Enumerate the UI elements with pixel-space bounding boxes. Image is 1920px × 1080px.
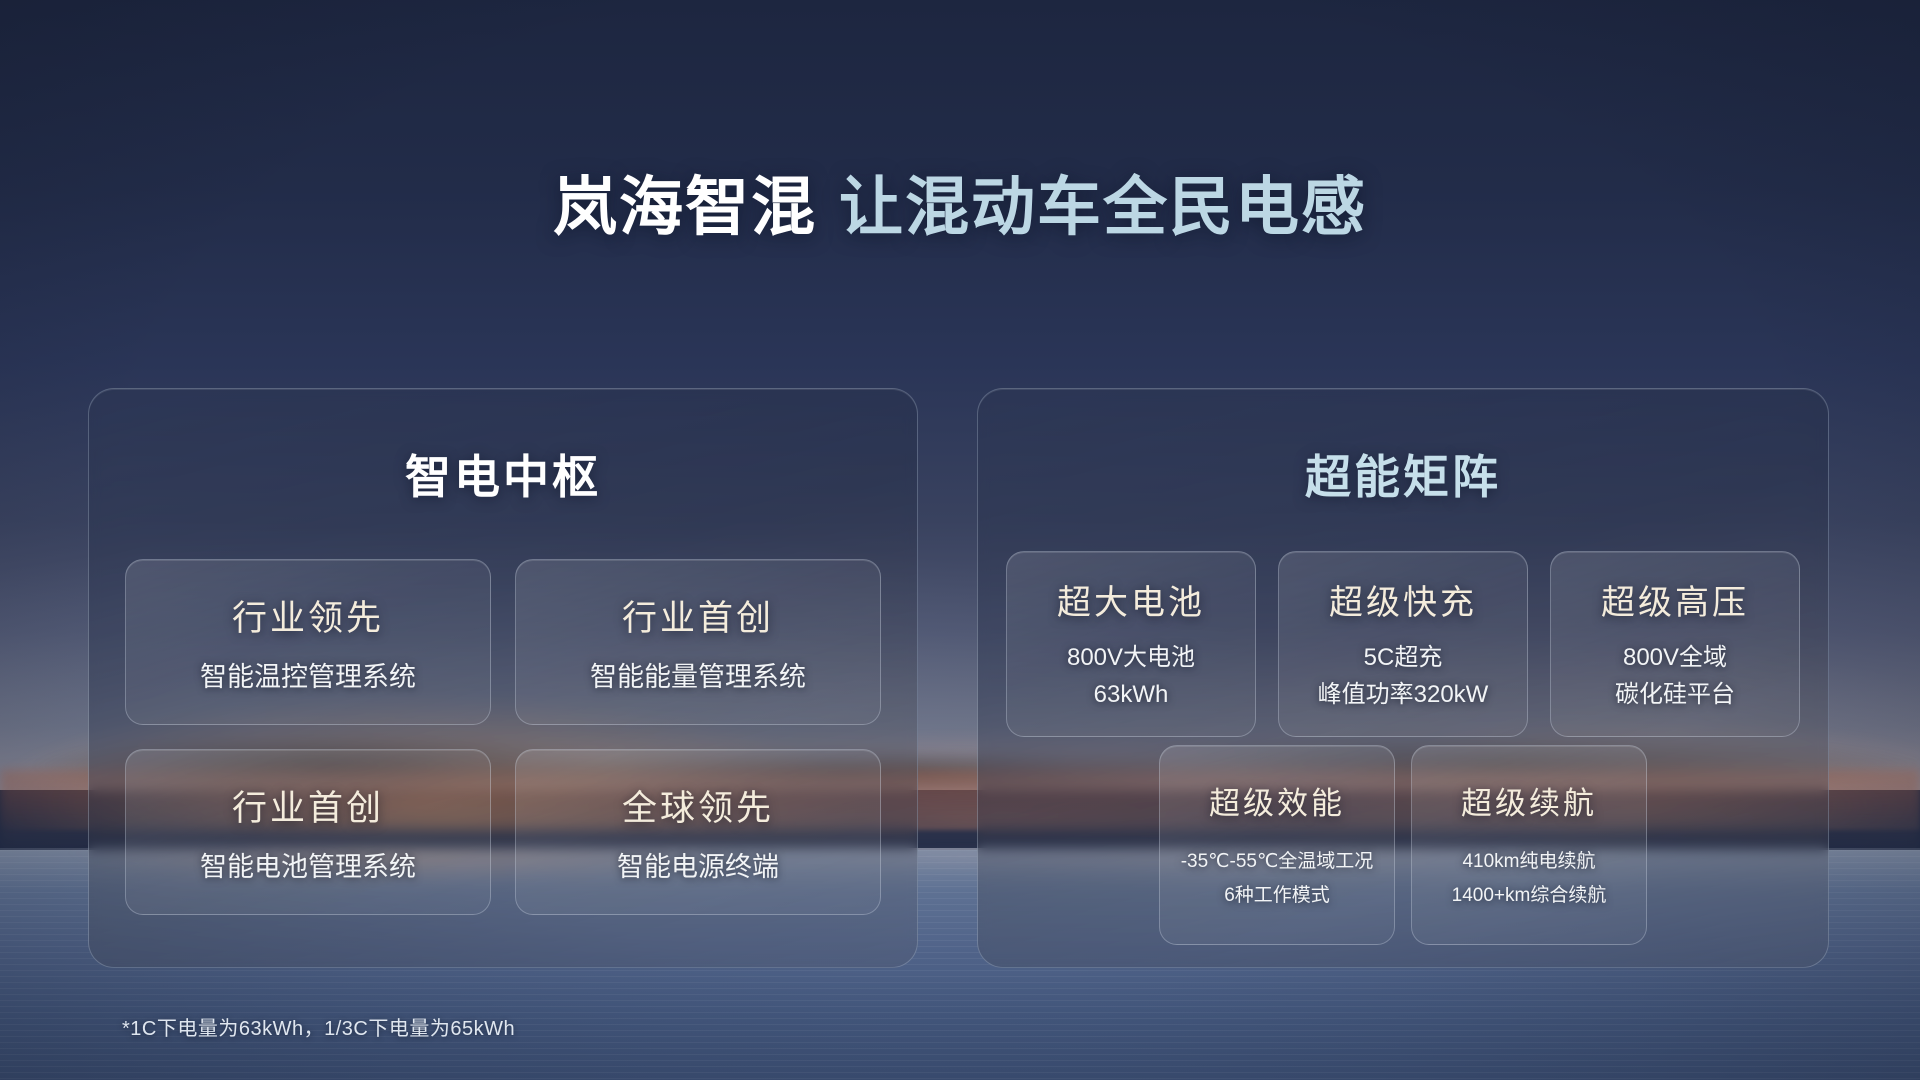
card-line-1: 800V全域 [1623,640,1727,676]
card-line-2: 碳化硅平台 [1615,677,1735,713]
card-battery-management[interactable]: 行业首创 智能电池管理系统 [125,749,491,915]
card-title: 行业首创 [622,590,774,641]
card-super-range[interactable]: 超级续航 410km纯电续航 1400+km综合续航 [1411,745,1647,945]
page-title: 岚海智混让混动车全民电感 [0,174,1920,241]
card-line-2: 63kWh [1094,677,1169,713]
card-title: 超级效能 [1209,778,1345,823]
card-line-1: 410km纯电续航 [1462,845,1595,878]
right-card-row-secondary: 超级效能 -35℃-55℃全温域工况 6种工作模式 超级续航 410km纯电续航… [978,745,1828,945]
card-thermal-management[interactable]: 行业领先 智能温控管理系统 [125,559,491,725]
panel-smart-power-hub: 智电中枢 行业领先 智能温控管理系统 行业首创 智能能量管理系统 行业首创 智能… [88,388,918,968]
card-energy-management[interactable]: 行业首创 智能能量管理系统 [515,559,881,725]
right-card-row-primary: 超大电池 800V大电池 63kWh 超级快充 5C超充 峰值功率320kW 超… [1006,551,1800,737]
page-title-main: 岚海智混 [553,171,817,243]
card-line-2: 1400+km综合续航 [1452,879,1607,912]
panel-right-heading: 超能矩阵 [978,441,1828,507]
card-high-voltage[interactable]: 超级高压 800V全域 碳化硅平台 [1550,551,1800,737]
panel-left-heading: 智电中枢 [89,441,917,507]
card-line: 智能电源终端 [617,845,779,884]
card-line-2: 峰值功率320kW [1318,677,1489,713]
card-super-efficiency[interactable]: 超级效能 -35℃-55℃全温域工况 6种工作模式 [1159,745,1395,945]
card-line: 智能温控管理系统 [200,655,416,694]
card-title: 超级续航 [1461,778,1597,823]
card-line: 智能能量管理系统 [590,655,806,694]
page-title-highlight: 让混动车全民电感 [839,171,1367,243]
card-power-terminal[interactable]: 全球领先 智能电源终端 [515,749,881,915]
footnote-disclaimer: *1C下电量为63kWh，1/3C下电量为65kWh [122,1012,515,1041]
card-line-1: 800V大电池 [1067,640,1195,676]
card-title: 全球领先 [622,780,774,831]
left-card-grid: 行业领先 智能温控管理系统 行业首创 智能能量管理系统 行业首创 智能电池管理系… [125,559,881,915]
card-fast-charging[interactable]: 超级快充 5C超充 峰值功率320kW [1278,551,1528,737]
card-line-1: 5C超充 [1364,640,1443,676]
card-line: 智能电池管理系统 [200,845,416,884]
card-line-2: 6种工作模式 [1224,879,1330,912]
card-title: 超级快充 [1329,575,1477,624]
card-title: 超大电池 [1057,575,1205,624]
card-title: 行业首创 [232,780,384,831]
card-title: 超级高压 [1601,575,1749,624]
card-large-battery[interactable]: 超大电池 800V大电池 63kWh [1006,551,1256,737]
card-title: 行业领先 [232,590,384,641]
card-line-1: -35℃-55℃全温域工况 [1181,845,1374,878]
panel-super-matrix: 超能矩阵 超大电池 800V大电池 63kWh 超级快充 5C超充 峰值功率32… [977,388,1829,968]
